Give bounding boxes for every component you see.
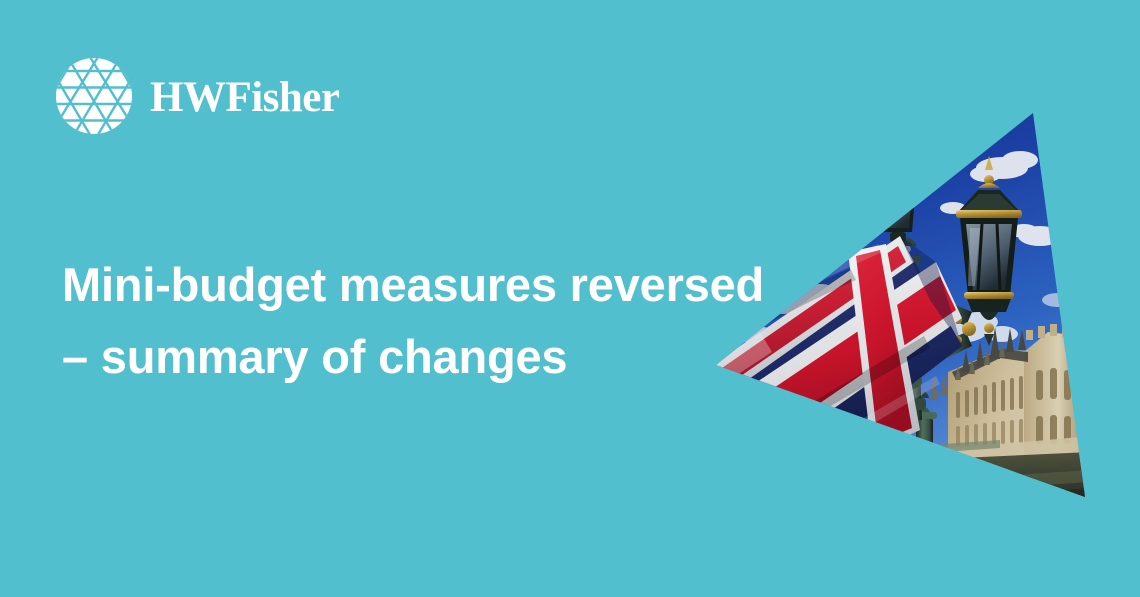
page-title-line-2: – summary of changes xyxy=(62,321,762,393)
lantern xyxy=(956,156,1022,346)
houses-of-parliament xyxy=(916,324,1090,470)
circle-triangular-lattice-icon xyxy=(56,58,132,134)
page-title: Mini-budget measures reversed – summary … xyxy=(62,249,762,393)
brand-lockup[interactable]: HWFisher xyxy=(56,58,339,134)
westminster-lamppost xyxy=(842,156,1022,420)
page-title-line-1: Mini-budget measures reversed xyxy=(62,249,762,321)
banner: HWFisher Mini-budget measures reversed –… xyxy=(0,0,1140,597)
brand-wordmark: HWFisher xyxy=(150,76,339,119)
bridge-balustrade xyxy=(832,392,1000,486)
